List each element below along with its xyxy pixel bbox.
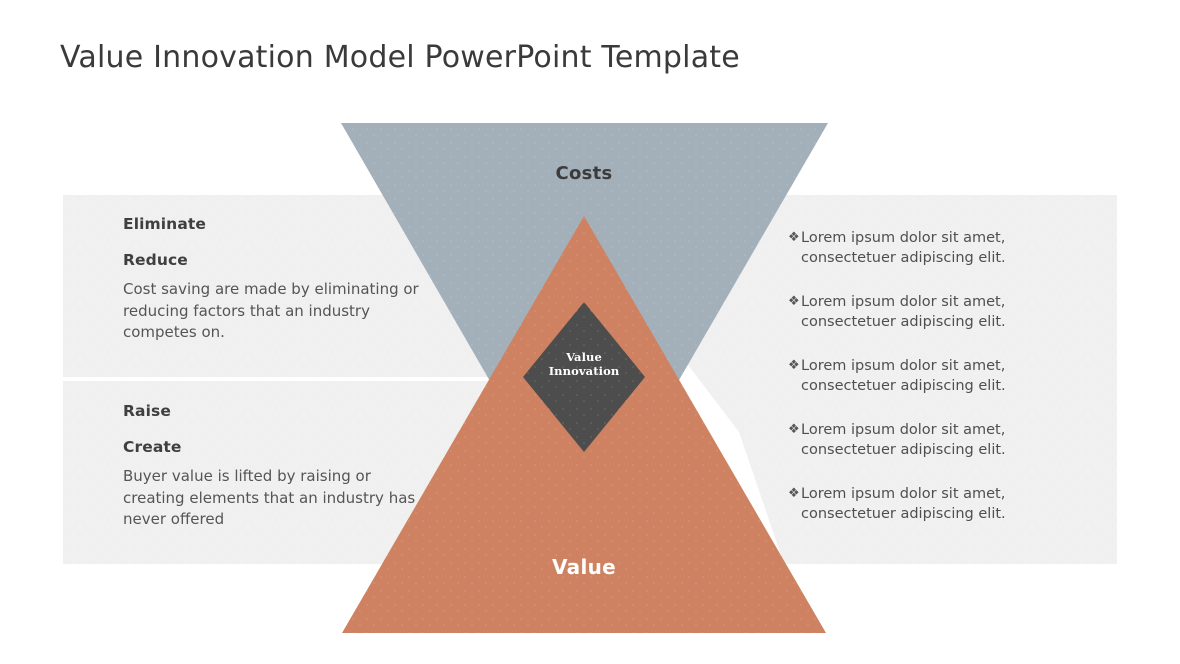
eliminate-heading: Eliminate (123, 214, 423, 234)
diamond-bullet-icon: ❖ (788, 292, 801, 312)
list-item: ❖ Lorem ipsum dolor sit amet, consectetu… (788, 484, 1078, 524)
list-item-text: Lorem ipsum dolor sit amet, consectetuer… (801, 420, 1078, 460)
diamond-bullet-icon: ❖ (788, 420, 801, 440)
reduce-heading: Reduce (123, 250, 423, 270)
eliminate-reduce-body: Cost saving are made by eliminating or r… (123, 279, 423, 344)
list-item: ❖ Lorem ipsum dolor sit amet, consectetu… (788, 228, 1078, 268)
eliminate-reduce-block: Eliminate Reduce Cost saving are made by… (123, 214, 423, 344)
diamond-bullet-icon: ❖ (788, 356, 801, 376)
raise-heading: Raise (123, 401, 423, 421)
list-item-text: Lorem ipsum dolor sit amet, consectetuer… (801, 484, 1078, 524)
raise-create-block: Raise Create Buyer value is lifted by ra… (123, 401, 423, 531)
list-item: ❖ Lorem ipsum dolor sit amet, consectetu… (788, 292, 1078, 332)
slide-canvas: Value Innovation Model PowerPoint Templa… (0, 0, 1180, 664)
create-heading: Create (123, 437, 423, 457)
list-item-text: Lorem ipsum dolor sit amet, consectetuer… (801, 228, 1078, 268)
raise-create-body: Buyer value is lifted by raising or crea… (123, 466, 423, 531)
diamond-bullet-icon: ❖ (788, 228, 801, 248)
diamond-bullet-icon: ❖ (788, 484, 801, 504)
bullet-list: ❖ Lorem ipsum dolor sit amet, consectetu… (788, 228, 1078, 524)
list-item-text: Lorem ipsum dolor sit amet, consectetuer… (801, 356, 1078, 396)
list-item-text: Lorem ipsum dolor sit amet, consectetuer… (801, 292, 1078, 332)
list-item: ❖ Lorem ipsum dolor sit amet, consectetu… (788, 356, 1078, 396)
list-item: ❖ Lorem ipsum dolor sit amet, consectetu… (788, 420, 1078, 460)
